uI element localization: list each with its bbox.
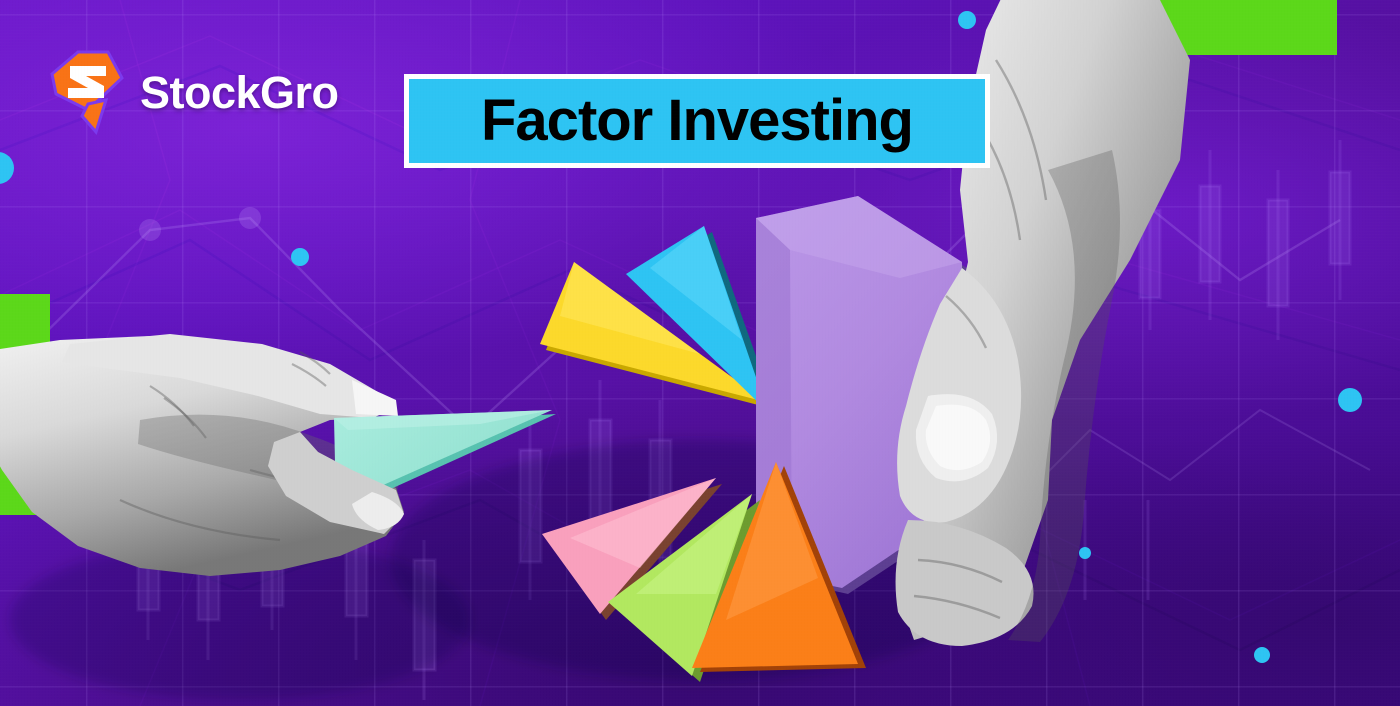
brand-logo[interactable]: StockGro [48, 48, 339, 136]
title-band: Factor Investing [409, 79, 985, 163]
stockgro-lightning-diamond-icon [48, 48, 126, 136]
title-banner: Factor Investing [404, 74, 990, 168]
page-title: Factor Investing [481, 92, 913, 150]
banner-canvas: StockGro Factor Investing [0, 0, 1400, 706]
brand-wordmark: StockGro [140, 70, 339, 115]
